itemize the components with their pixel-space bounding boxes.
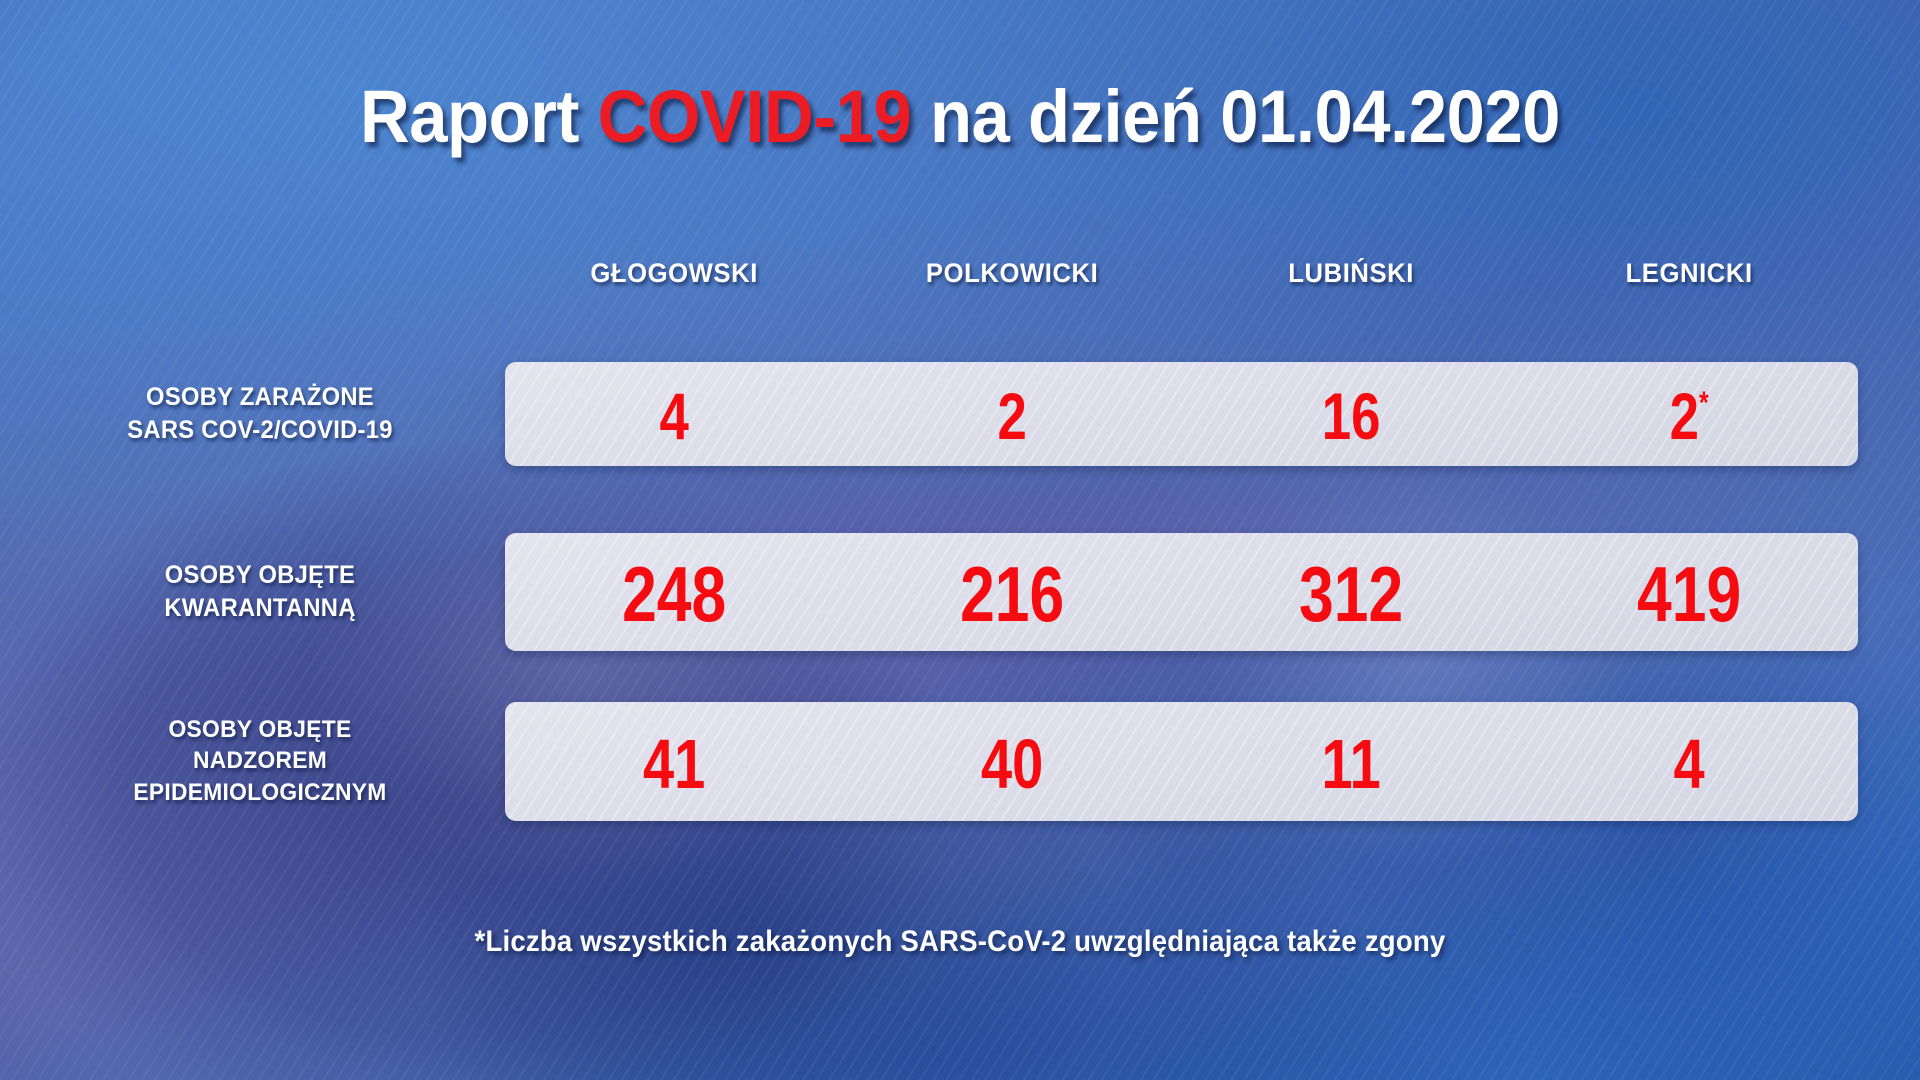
column-header-polkowicki: POLKOWICKI bbox=[852, 258, 1173, 289]
value-quarantine-legnicki: 419 bbox=[1554, 555, 1825, 633]
value-text: 4 bbox=[659, 379, 688, 453]
value-infected-glogowski: 4 bbox=[539, 383, 810, 449]
values-panel-quarantine: 248 216 312 419 bbox=[505, 533, 1858, 651]
title-prefix: Raport bbox=[360, 75, 598, 158]
footnote-marker: * bbox=[1699, 385, 1709, 420]
value-infected-legnicki: 2* bbox=[1554, 383, 1825, 449]
value-text: 312 bbox=[1299, 550, 1403, 638]
value-infected-polkowicki: 2 bbox=[877, 383, 1148, 449]
value-text: 11 bbox=[1321, 725, 1380, 803]
table-row: OSOBY OBJĘTE KWARANTANNĄ 248 216 312 419 bbox=[0, 533, 1920, 651]
value-surveillance-polkowicki: 40 bbox=[877, 729, 1148, 799]
value-surveillance-lubinski: 11 bbox=[1215, 729, 1486, 799]
value-surveillance-glogowski: 41 bbox=[539, 729, 810, 799]
value-quarantine-glogowski: 248 bbox=[539, 555, 810, 633]
title-highlight: COVID-19 bbox=[598, 75, 912, 158]
row-label-line: NADZOREM bbox=[42, 746, 479, 778]
value-text: 4 bbox=[1673, 725, 1704, 803]
infographic-root: Raport COVID-19 na dzień 01.04.2020 GŁOG… bbox=[0, 0, 1920, 1080]
value-text: 40 bbox=[981, 725, 1043, 803]
row-label-line: SARS COV-2/COVID-19 bbox=[42, 414, 479, 447]
row-label-infected: OSOBY ZARAŻONE SARS COV-2/COVID-19 bbox=[42, 381, 479, 448]
value-text: 2 bbox=[998, 379, 1027, 453]
table-row: OSOBY OBJĘTE NADZOREM EPIDEMIOLOGICZNYM … bbox=[0, 702, 1920, 821]
value-text: 41 bbox=[643, 725, 705, 803]
row-label-quarantine: OSOBY OBJĘTE KWARANTANNĄ bbox=[42, 559, 479, 626]
column-headers: GŁOGOWSKI POLKOWICKI LUBIŃSKI LEGNICKI bbox=[505, 258, 1858, 289]
values-panel-surveillance: 41 40 11 4 bbox=[505, 702, 1858, 821]
table-row: OSOBY ZARAŻONE SARS COV-2/COVID-19 4 2 1… bbox=[0, 362, 1920, 466]
value-text: 2 bbox=[1669, 379, 1698, 453]
value-quarantine-polkowicki: 216 bbox=[877, 555, 1148, 633]
column-header-glogowski: GŁOGOWSKI bbox=[513, 258, 834, 289]
column-header-legnicki: LEGNICKI bbox=[1528, 258, 1849, 289]
row-label-line: EPIDEMIOLOGICZNYM bbox=[42, 777, 479, 809]
values-panel-infected: 4 2 16 2* bbox=[505, 362, 1858, 466]
value-text: 248 bbox=[622, 550, 726, 638]
row-label-line: OSOBY OBJĘTE bbox=[42, 559, 479, 592]
page-title: Raport COVID-19 na dzień 01.04.2020 bbox=[67, 74, 1853, 159]
value-text: 16 bbox=[1321, 379, 1380, 453]
row-label-line: KWARANTANNĄ bbox=[42, 592, 479, 625]
row-label-line: OSOBY OBJĘTE bbox=[42, 714, 479, 746]
infographic-content: Raport COVID-19 na dzień 01.04.2020 GŁOG… bbox=[0, 0, 1920, 1080]
row-label-line: OSOBY ZARAŻONE bbox=[42, 381, 479, 414]
value-surveillance-legnicki: 4 bbox=[1554, 729, 1825, 799]
value-text: 216 bbox=[960, 550, 1064, 638]
column-header-lubinski: LUBIŃSKI bbox=[1190, 258, 1511, 289]
value-text: 419 bbox=[1637, 550, 1741, 638]
footnote-text: *Liczba wszystkich zakażonych SARS-CoV-2… bbox=[77, 925, 1843, 959]
row-label-surveillance: OSOBY OBJĘTE NADZOREM EPIDEMIOLOGICZNYM bbox=[42, 714, 479, 810]
title-suffix: na dzień 01.04.2020 bbox=[911, 75, 1560, 158]
value-infected-lubinski: 16 bbox=[1215, 383, 1486, 449]
value-quarantine-lubinski: 312 bbox=[1215, 555, 1486, 633]
